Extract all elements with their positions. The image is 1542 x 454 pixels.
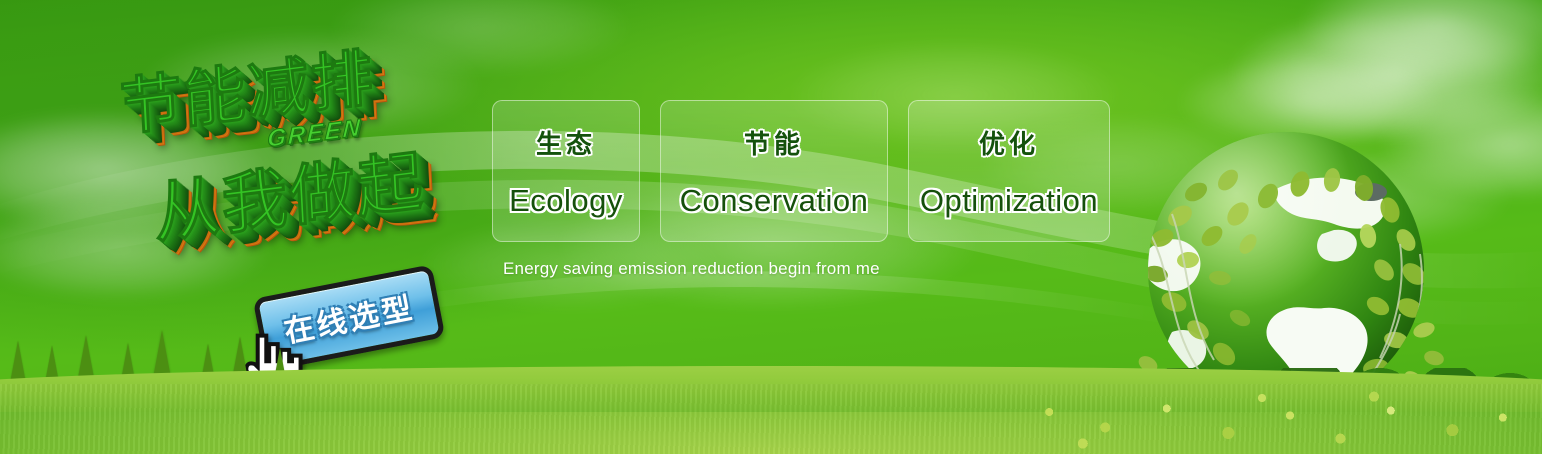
cloud-icon	[1300, 0, 1542, 80]
feature-card-en-label: Optimization	[920, 183, 1098, 219]
feature-card-conservation[interactable]: 节能 Conservation	[660, 100, 888, 242]
feature-card-en-label: Ecology	[509, 183, 623, 219]
feature-card-cn-label: 节能	[744, 124, 804, 161]
feature-card-list: 生态 Ecology 节能 Conservation 优化 Optimizati…	[492, 100, 1110, 242]
green-energy-banner: 节能减排 GREEN 从我做起 在线选型 生态 Ecology 节能 Conse…	[0, 0, 1542, 454]
headline-artwork: 节能减排 GREEN 从我做起	[95, 36, 485, 271]
leaf-litter	[982, 384, 1542, 454]
feature-card-en-label: Conservation	[680, 183, 869, 219]
feature-card-cn-label: 优化	[979, 124, 1039, 161]
feature-card-optimization[interactable]: 优化 Optimization	[908, 100, 1110, 242]
feature-card-ecology[interactable]: 生态 Ecology	[492, 100, 640, 242]
headline-line-2: 从我做起	[151, 127, 426, 256]
banner-tagline: Energy saving emission reduction begin f…	[503, 259, 880, 279]
feature-card-cn-label: 生态	[536, 124, 596, 161]
